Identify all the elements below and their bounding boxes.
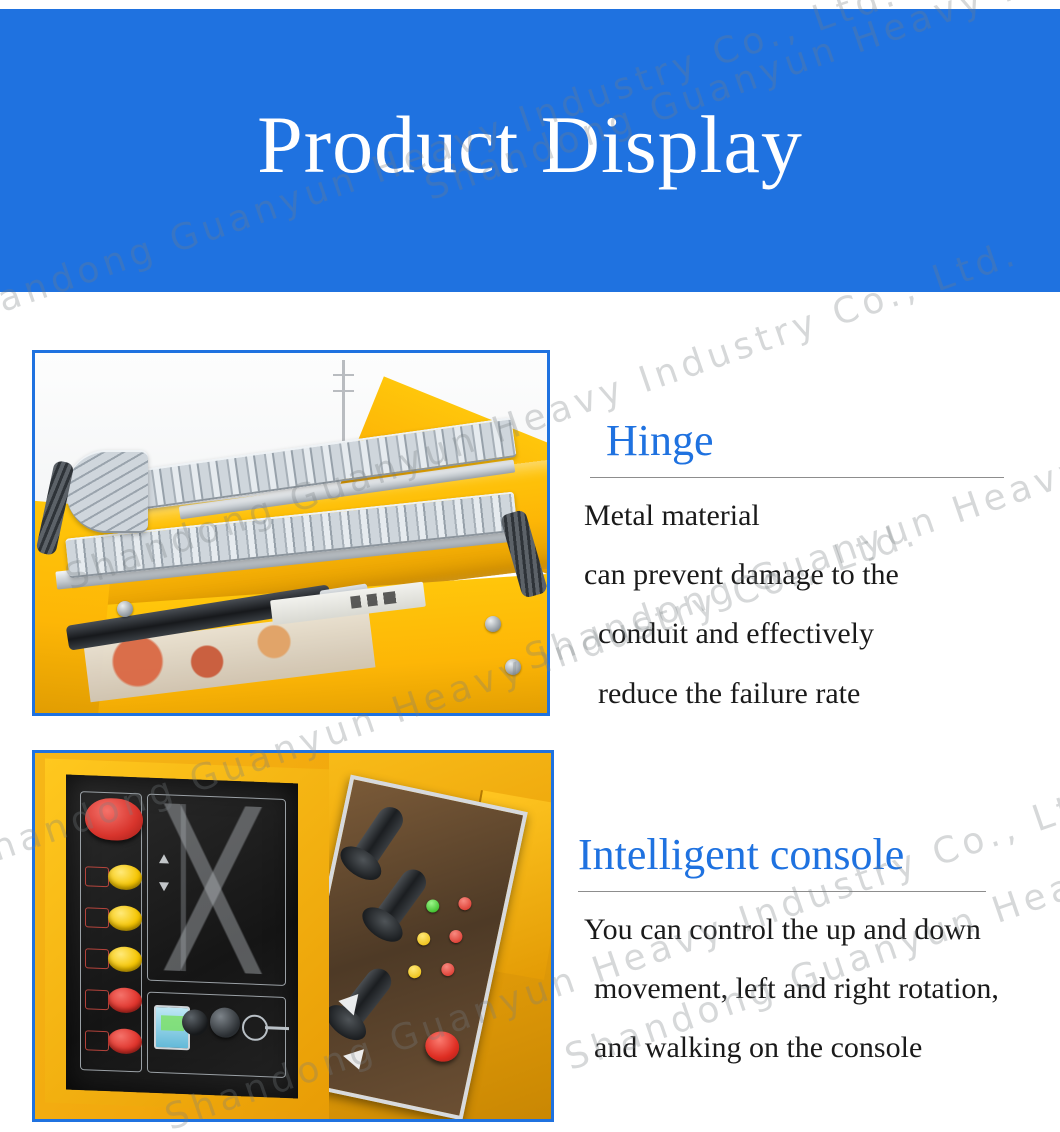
indicator-light-yellow bbox=[108, 864, 142, 890]
body-line: can prevent damage to the bbox=[578, 545, 1006, 604]
indicator-icon bbox=[85, 907, 109, 928]
joystick-panel bbox=[329, 774, 528, 1119]
indicator-light-yellow bbox=[108, 905, 142, 931]
body-line: movement, left and right rotation, bbox=[578, 959, 1006, 1018]
joy-indicator-yellow bbox=[416, 931, 431, 946]
joy-indicator-red bbox=[448, 929, 463, 944]
content-area: Hinge Metal material can prevent damage … bbox=[0, 292, 1060, 1132]
section-divider bbox=[578, 891, 986, 892]
hinge-text-block: Hinge Metal material can prevent damage … bbox=[578, 418, 1006, 723]
operation-diagram bbox=[152, 803, 280, 975]
indicator-icon bbox=[85, 948, 109, 969]
pivot-bolt bbox=[485, 616, 501, 632]
joystick-lever[interactable] bbox=[373, 864, 430, 929]
header-banner: Product Display bbox=[0, 9, 1060, 292]
joystick-lever[interactable] bbox=[352, 802, 408, 868]
arrow-down-icon bbox=[159, 882, 169, 891]
section-divider bbox=[590, 477, 1004, 478]
hinge-description: Metal material can prevent damage to the… bbox=[578, 486, 1006, 724]
hinge-photo[interactable] bbox=[32, 350, 550, 716]
console-text-block: Intelligent console You can control the … bbox=[578, 832, 1006, 1078]
control-panel bbox=[66, 774, 298, 1098]
console-photo-inner bbox=[35, 753, 551, 1119]
page-title: Product Display bbox=[257, 104, 803, 186]
arrow-up-icon bbox=[159, 853, 169, 862]
section-heading-hinge: Hinge bbox=[578, 418, 1006, 465]
console-photo[interactable] bbox=[32, 750, 554, 1122]
indicator-icon bbox=[85, 1030, 109, 1051]
joy-indicator-red bbox=[457, 896, 472, 911]
joy-indicator-green bbox=[425, 898, 440, 913]
body-line: You can control the up and down bbox=[578, 900, 1006, 959]
section-heading-console: Intelligent console bbox=[578, 832, 1006, 879]
joystick-emergency-stop[interactable] bbox=[422, 1027, 461, 1063]
body-line: conduit and effectively bbox=[578, 604, 1006, 663]
body-line: Metal material bbox=[578, 486, 1006, 545]
body-line: reduce the failure rate bbox=[578, 664, 1006, 723]
console-description: You can control the up and down movement… bbox=[578, 900, 1006, 1078]
indicator-icon bbox=[85, 866, 109, 887]
indicator-icon bbox=[85, 989, 109, 1010]
indicator-light-yellow bbox=[108, 946, 142, 972]
emergency-stop-button[interactable] bbox=[85, 797, 143, 841]
joy-indicator-red bbox=[440, 961, 455, 976]
direction-arrow-icon bbox=[343, 1049, 369, 1073]
hinge-photo-inner bbox=[35, 353, 547, 713]
body-line: and walking on the console bbox=[578, 1018, 1006, 1077]
drag-chain-loop bbox=[66, 450, 148, 533]
joy-indicator-yellow bbox=[407, 964, 422, 979]
joystick-bay bbox=[329, 753, 551, 1119]
